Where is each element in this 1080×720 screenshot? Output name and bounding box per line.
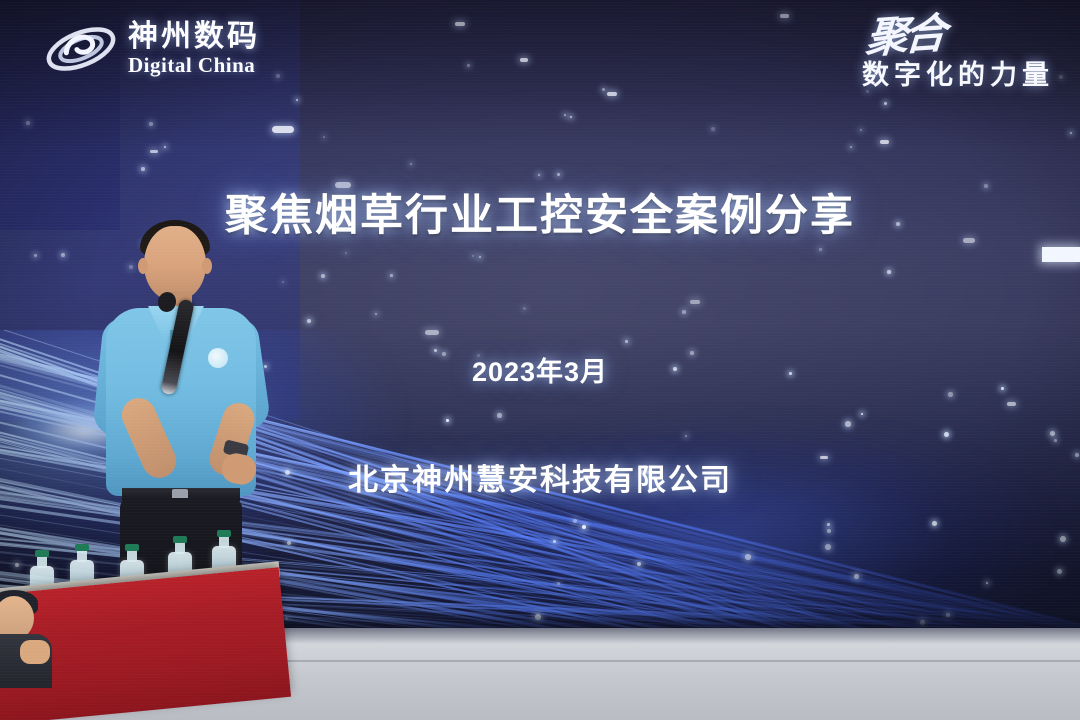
- speaker-ear-right: [202, 258, 212, 274]
- speaker-head: [144, 226, 206, 300]
- wall-white-strip: [1042, 247, 1080, 262]
- seated-attendee: [0, 596, 64, 682]
- attendee-hand: [20, 640, 50, 664]
- event-theme-lockup: 聚合 数字化的力量: [862, 18, 1054, 92]
- speaker-shirt-logo: [208, 348, 228, 368]
- brand-name-cn: 神州数码: [128, 22, 260, 52]
- digital-china-swirl-icon: [44, 20, 118, 78]
- brand-lockup: 神州数码 Digital China: [44, 20, 260, 78]
- theme-calligraphy: 聚合: [864, 15, 943, 59]
- speaker-ear-left: [138, 258, 148, 274]
- brand-name-en: Digital China: [128, 55, 260, 76]
- conference-stage-photo: 聚焦烟草行业工控安全案例分享 2023年3月 北京神州慧安科技有限公司 神州数码…: [0, 0, 1080, 720]
